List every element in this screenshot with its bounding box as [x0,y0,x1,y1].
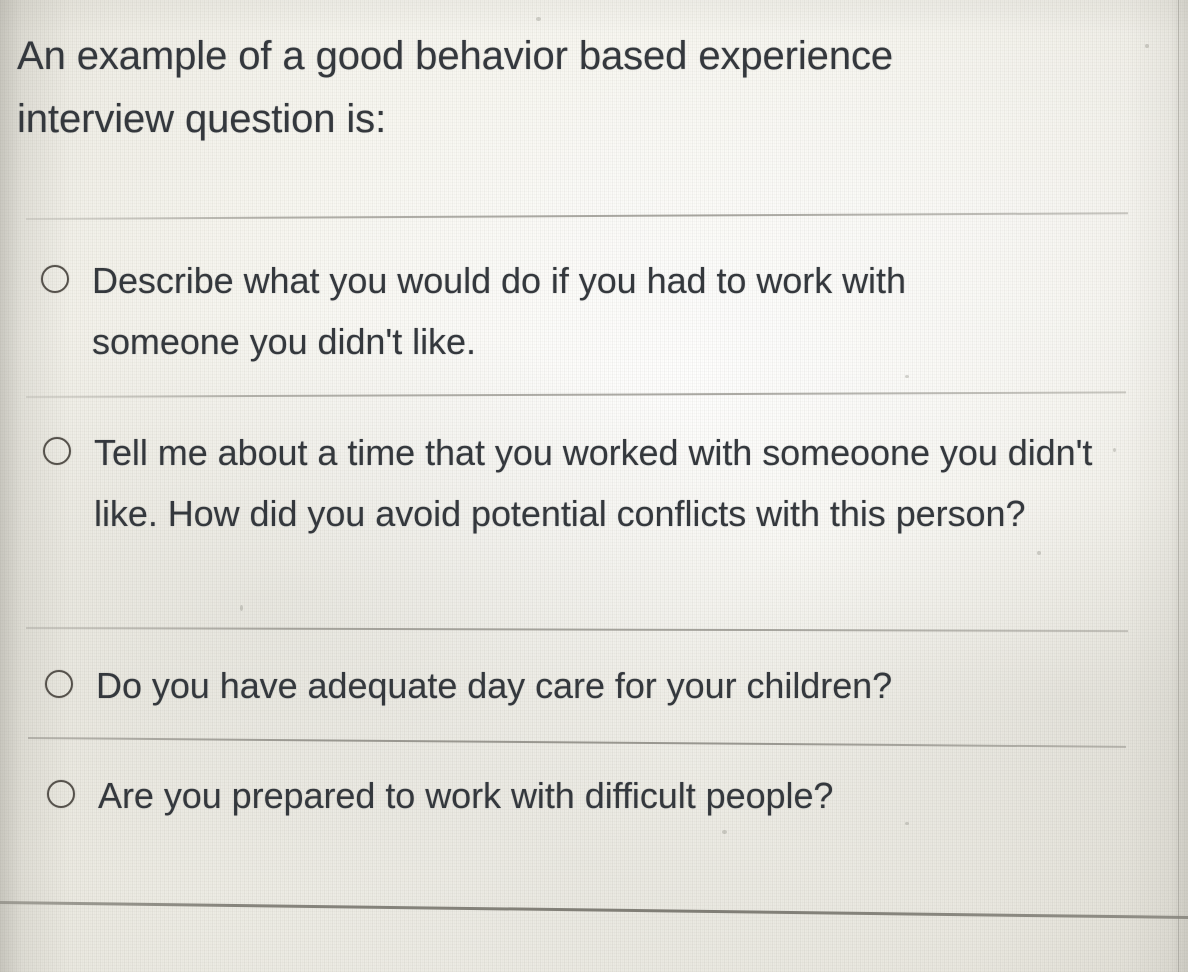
answer-option-3[interactable]: Are you prepared to work with difficult … [0,765,1108,826]
answer-option-0[interactable]: Describe what you would do if you had to… [0,250,1022,372]
radio-button-icon[interactable] [41,265,69,293]
radio-button-icon[interactable] [47,780,75,808]
divider-below-options [0,901,1188,919]
answer-option-label: Do you have adequate day care for your c… [96,655,1106,716]
answer-option-2[interactable]: Do you have adequate day care for your c… [0,655,1106,716]
divider-between-option-2-and-3 [28,737,1126,748]
answer-option-label: Describe what you would do if you had to… [92,250,1022,372]
question-content: An example of a good behavior based expe… [0,0,1188,972]
divider-between-option-0-and-1 [26,391,1126,398]
answer-option-1[interactable]: Tell me about a time that you worked wit… [0,422,1104,544]
answer-option-label: Tell me about a time that you worked wit… [94,422,1104,544]
divider-above-options [26,212,1128,220]
answer-option-label: Are you prepared to work with difficult … [98,765,1108,826]
page-title: An example of a good behavior based expe… [17,25,1057,151]
radio-button-icon[interactable] [43,437,71,465]
divider-between-option-1-and-2 [26,627,1128,632]
quiz-question-screen: An example of a good behavior based expe… [0,0,1188,972]
radio-button-icon[interactable] [45,670,73,698]
